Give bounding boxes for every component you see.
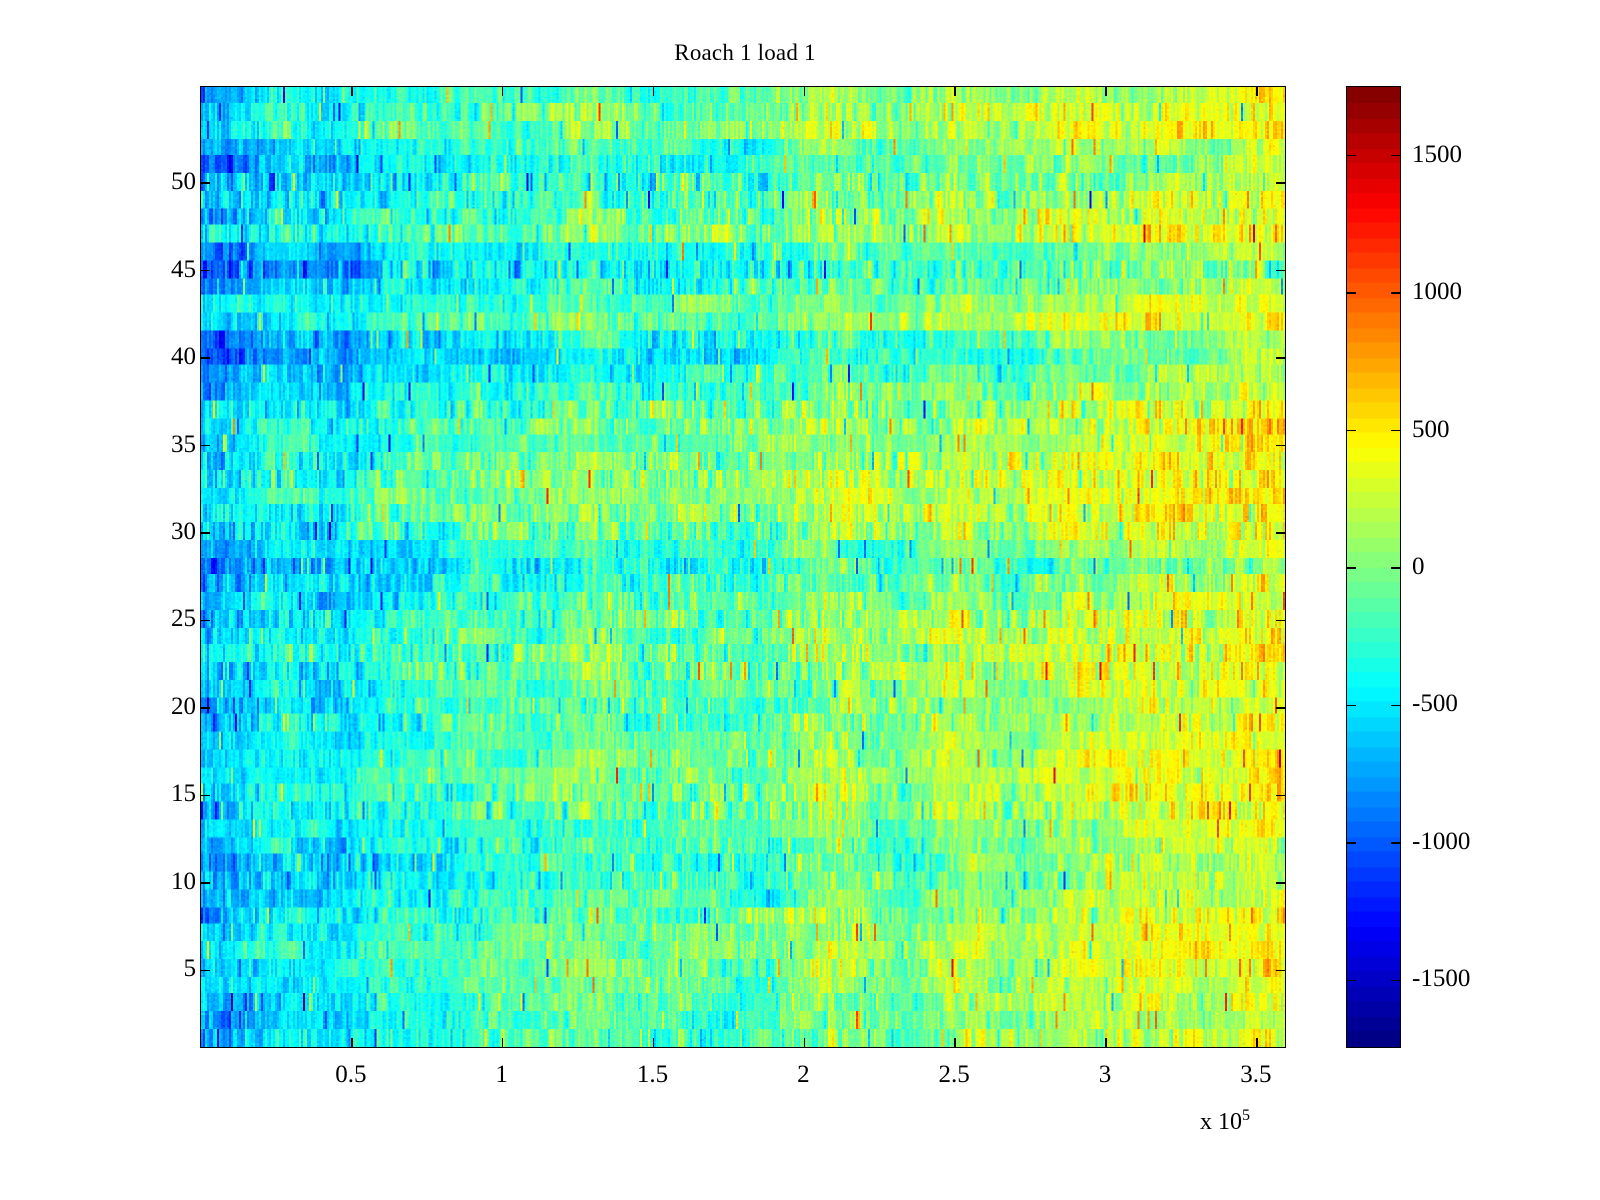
y-tick-label: 25 [136, 606, 196, 631]
x-tick-mark [653, 1038, 655, 1047]
x-tick-mark [1256, 1038, 1258, 1047]
y-tick-mark [201, 970, 210, 972]
x-axis-exponent-label: x 105 [1200, 1103, 1250, 1135]
y-tick-label: 20 [136, 694, 196, 719]
x-tick-label: 1 [452, 1062, 552, 1087]
colorbar-tick-mark [1391, 980, 1400, 982]
colorbar-tick-mark [1347, 155, 1356, 157]
x-tick-mark [804, 87, 806, 96]
y-tick-mark [201, 707, 210, 709]
y-tick-label: 40 [136, 344, 196, 369]
y-tick-mark [201, 882, 210, 884]
y-tick-mark [1276, 620, 1285, 622]
y-tick-mark [1276, 445, 1285, 447]
x-tick-mark [954, 1038, 956, 1047]
x-tick-label: 2 [753, 1062, 853, 1087]
x-tick-mark [502, 1038, 504, 1047]
y-tick-mark [201, 270, 210, 272]
y-tick-mark [1276, 970, 1285, 972]
y-tick-mark [201, 620, 210, 622]
colorbar-tick-label: 1500 [1412, 142, 1532, 167]
y-tick-label: 50 [136, 169, 196, 194]
figure-root: Roach 1 load 1 5101520253035404550 0.511… [0, 0, 1600, 1200]
x-tick-mark [351, 87, 353, 96]
y-tick-label: 30 [136, 519, 196, 544]
colorbar-tick-label: -1500 [1412, 966, 1532, 991]
page-title: Roach 1 load 1 [0, 40, 1490, 66]
colorbar-tick-mark [1347, 980, 1356, 982]
y-tick-mark [1276, 357, 1285, 359]
colorbar-tick-label: -500 [1412, 691, 1532, 716]
y-tick-mark [201, 532, 210, 534]
y-tick-label: 45 [136, 257, 196, 282]
y-tick-mark [1276, 182, 1285, 184]
x-tick-mark [653, 87, 655, 96]
colorbar-tick-label: 0 [1412, 554, 1532, 579]
colorbar-tick-mark [1391, 155, 1400, 157]
y-tick-mark [1276, 795, 1285, 797]
y-tick-mark [201, 795, 210, 797]
x-tick-mark [1105, 87, 1107, 96]
x-tick-label: 2.5 [904, 1062, 1004, 1087]
colorbar-tick-mark [1391, 705, 1400, 707]
colorbar-tick-mark [1347, 292, 1356, 294]
x-tick-mark [954, 87, 956, 96]
colorbar-tick-label: -1000 [1412, 829, 1532, 854]
x-tick-mark [351, 1038, 353, 1047]
colorbar-tick-mark [1391, 430, 1400, 432]
y-tick-label: 15 [136, 781, 196, 806]
colorbar-tick-mark [1391, 292, 1400, 294]
colorbar-tick-mark [1391, 842, 1400, 844]
heatmap-image [201, 87, 1285, 1047]
colorbar-tick-mark [1391, 567, 1400, 569]
y-tick-mark [1276, 532, 1285, 534]
y-tick-mark [201, 182, 210, 184]
x-tick-label: 3 [1055, 1062, 1155, 1087]
x-tick-label: 3.5 [1206, 1062, 1306, 1087]
colorbar-tick-mark [1347, 842, 1356, 844]
colorbar-tick-mark [1347, 430, 1356, 432]
y-tick-mark [201, 357, 210, 359]
y-tick-mark [1276, 882, 1285, 884]
y-tick-mark [1276, 707, 1285, 709]
x-tick-mark [1105, 1038, 1107, 1047]
x-tick-label: 1.5 [603, 1062, 703, 1087]
x-exponent-mantissa: x 10 [1200, 1109, 1242, 1135]
heatmap-axes[interactable] [200, 86, 1286, 1048]
y-tick-mark [1276, 270, 1285, 272]
colorbar-tick-mark [1347, 567, 1356, 569]
y-tick-label: 5 [136, 956, 196, 981]
x-tick-mark [1256, 87, 1258, 96]
y-tick-mark [201, 445, 210, 447]
colorbar-tick-mark [1347, 705, 1356, 707]
x-tick-label: 0.5 [301, 1062, 401, 1087]
x-exponent-power: 5 [1242, 1107, 1250, 1124]
y-tick-label: 35 [136, 432, 196, 457]
colorbar[interactable] [1346, 86, 1401, 1048]
colorbar-tick-label: 1000 [1412, 279, 1532, 304]
colorbar-tick-label: 500 [1412, 417, 1532, 442]
x-tick-mark [804, 1038, 806, 1047]
x-tick-mark [502, 87, 504, 96]
y-tick-label: 10 [136, 869, 196, 894]
